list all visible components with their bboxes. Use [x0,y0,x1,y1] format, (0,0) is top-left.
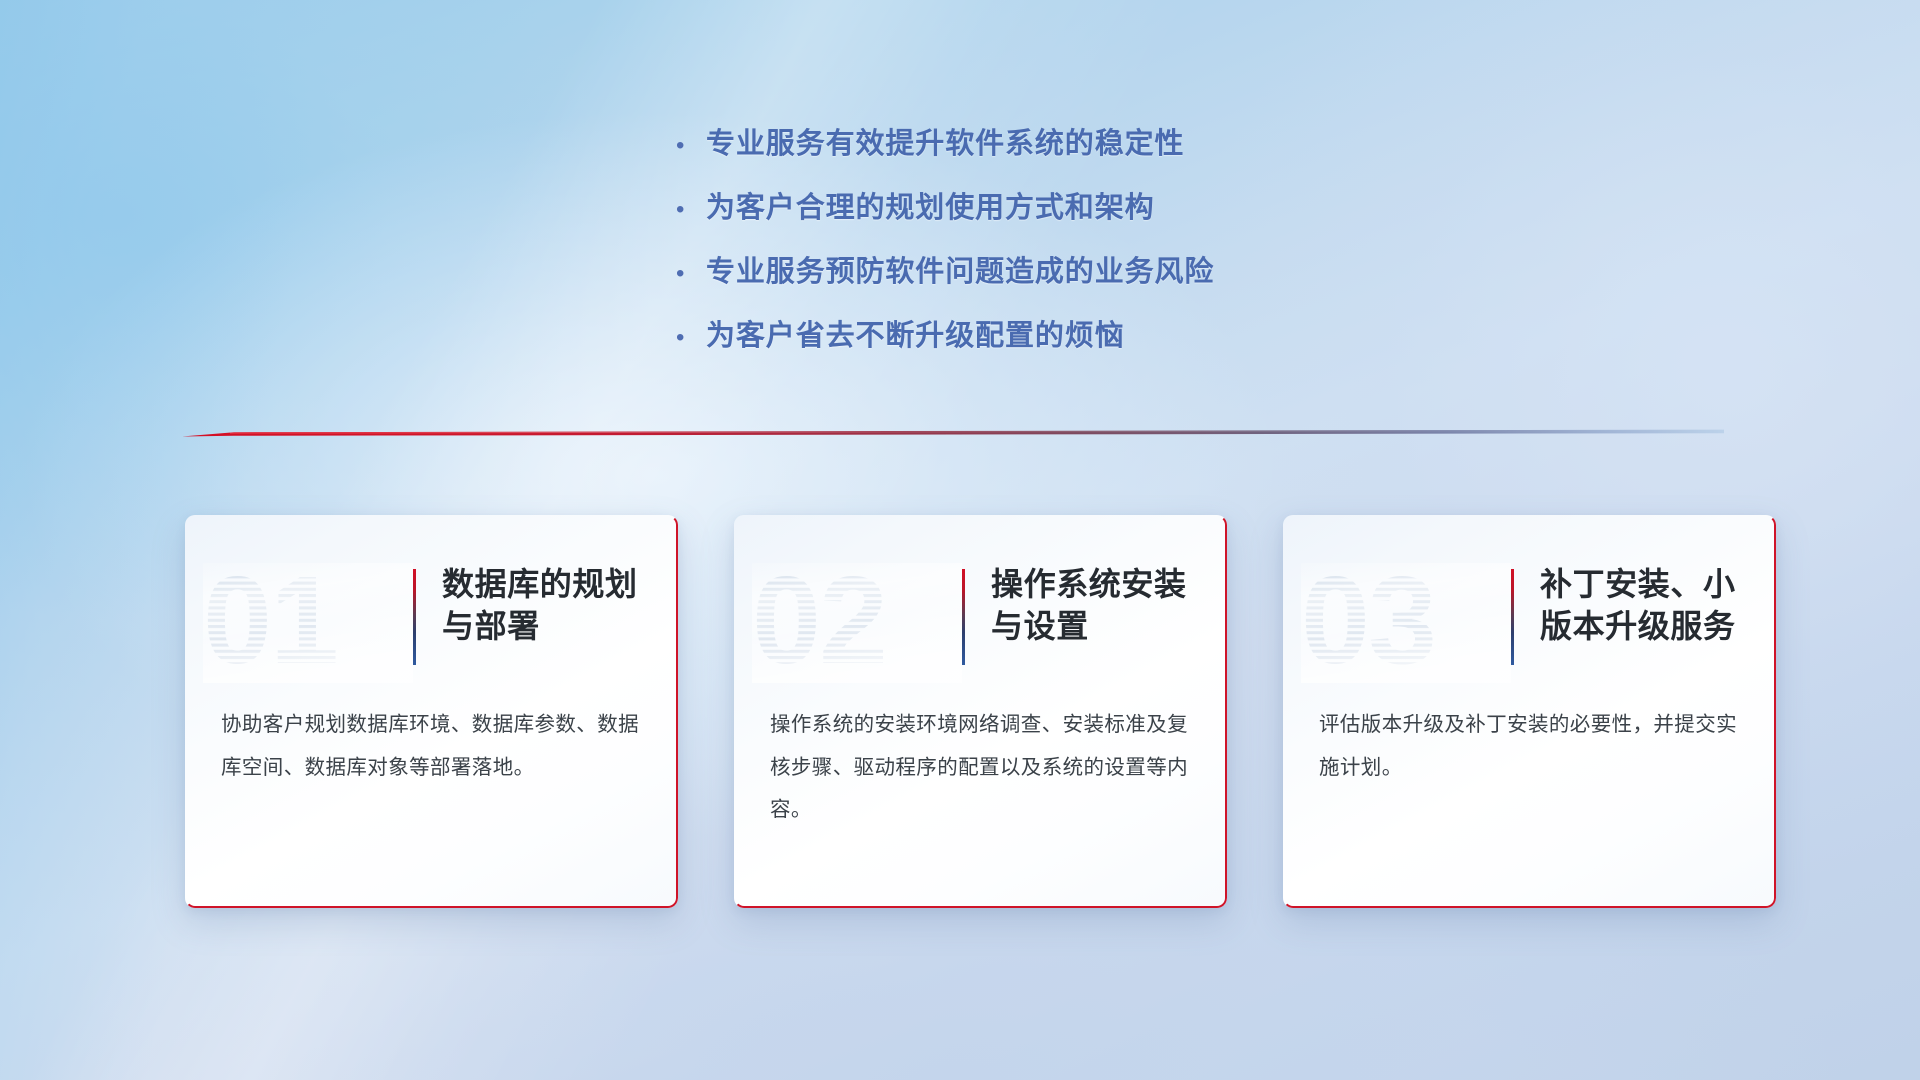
card-title: 数据库的规划与部署 [442,563,652,647]
card-description: 操作系统的安装环境网络调查、安装标准及复核步骤、驱动程序的配置以及系统的设置等内… [734,704,1227,832]
card-description: 协助客户规划数据库环境、数据库参数、数据库空间、数据库对象等部署落地。 [185,704,678,789]
card-title: 操作系统安装与设置 [991,563,1201,647]
card-title-rule [413,569,416,665]
card-title-rule [962,569,965,665]
bullet-text: 专业服务有效提升软件系统的稳定性 [706,120,1184,162]
card-number-watermark: 02 [752,563,962,683]
card-header: 01 数据库的规划与部署 [185,515,678,690]
bullet-text: 专业服务预防软件问题造成的业务风险 [706,248,1214,290]
benefits-bullet-list: • 专业服务有效提升软件系统的稳定性 • 为客户合理的规划使用方式和架构 • 专… [672,120,1472,376]
card-number-watermark: 01 [203,563,413,683]
card-number-watermark: 03 [1301,563,1511,683]
service-card-03[interactable]: 03 补丁安装、小版本升级服务 评估版本升级及补丁安装的必要性，并提交实施计划。 [1283,515,1776,908]
bullet-text: 为客户省去不断升级配置的烦恼 [706,312,1125,354]
card-header: 02 操作系统安装与设置 [734,515,1227,690]
list-item: • 为客户合理的规划使用方式和架构 [672,184,1472,248]
list-item: • 专业服务有效提升软件系统的稳定性 [672,120,1472,184]
bullet-marker-icon: • [672,326,706,350]
card-description: 评估版本升级及补丁安装的必要性，并提交实施计划。 [1283,704,1776,789]
card-title-rule [1511,569,1514,665]
bullet-marker-icon: • [672,262,706,286]
card-header: 03 补丁安装、小版本升级服务 [1283,515,1776,690]
service-card-02[interactable]: 02 操作系统安装与设置 操作系统的安装环境网络调查、安装标准及复核步骤、驱动程… [734,515,1227,908]
section-divider [182,425,1724,443]
bullet-marker-icon: • [672,134,706,158]
service-card-list: 01 数据库的规划与部署 协助客户规划数据库环境、数据库参数、数据库空间、数据库… [0,515,1920,908]
bullet-marker-icon: • [672,198,706,222]
service-card-01[interactable]: 01 数据库的规划与部署 协助客户规划数据库环境、数据库参数、数据库空间、数据库… [185,515,678,908]
list-item: • 为客户省去不断升级配置的烦恼 [672,312,1472,376]
card-title: 补丁安装、小版本升级服务 [1540,563,1750,647]
bullet-text: 为客户合理的规划使用方式和架构 [706,184,1155,226]
list-item: • 专业服务预防软件问题造成的业务风险 [672,248,1472,312]
